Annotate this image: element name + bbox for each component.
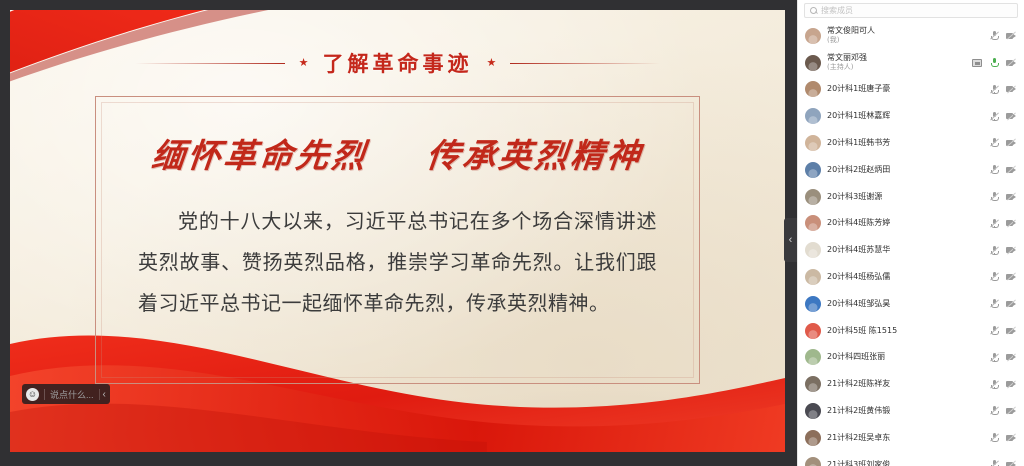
camera-off-icon[interactable]	[1006, 299, 1016, 308]
avatar	[805, 215, 821, 231]
participant-status-icons	[989, 219, 1016, 228]
slide-body-text: 党的十八大以来，习近平总书记在多个场合深情讲述英烈故事、赞扬英烈品格，推崇学习革…	[138, 201, 657, 324]
search-container	[798, 0, 1024, 22]
participant-row[interactable]: 20计科四班张丽	[798, 344, 1024, 371]
camera-off-icon[interactable]	[1006, 192, 1016, 201]
avatar	[805, 323, 821, 339]
slide-calligraphy-heading: 缅怀革命先烈 传承英烈精神	[93, 129, 701, 177]
participant-status-icons	[989, 460, 1016, 466]
avatar	[805, 28, 821, 44]
camera-off-icon[interactable]	[1006, 246, 1016, 255]
camera-off-icon[interactable]	[1006, 58, 1016, 67]
header-rule-right	[510, 63, 660, 64]
camera-off-icon[interactable]	[1006, 406, 1016, 415]
avatar	[805, 81, 821, 97]
participant-name: 21计科3班刘家俊	[827, 460, 983, 466]
participant-name: 常文丽邓强	[827, 53, 966, 63]
participant-role-label: (主持人)	[827, 63, 966, 72]
avatar	[805, 135, 821, 151]
participant-row[interactable]: 20计科1班韩书芳	[798, 130, 1024, 157]
search-icon	[810, 7, 817, 14]
avatar	[805, 403, 821, 419]
participant-status-icons	[989, 246, 1016, 255]
participant-status-icons	[989, 406, 1016, 415]
participant-status-icons	[989, 85, 1016, 94]
avatar	[805, 349, 821, 365]
camera-off-icon[interactable]	[1006, 31, 1016, 40]
avatar	[805, 430, 821, 446]
participant-name: 20计科4班杨弘儒	[827, 272, 983, 282]
participant-status-icons	[989, 31, 1016, 40]
smiley-icon[interactable]: ☺	[26, 388, 39, 401]
participant-status-icons	[989, 299, 1016, 308]
microphone-muted-icon[interactable]	[989, 85, 999, 94]
heading-left-text: 缅怀革命先烈	[150, 136, 370, 175]
camera-off-icon[interactable]	[1006, 165, 1016, 174]
composer-divider	[44, 389, 45, 400]
participant-names: 20计科1班唐子豪	[827, 84, 983, 94]
search-input[interactable]	[821, 6, 1012, 15]
participants-list[interactable]: 常文俊阳可人(我)常文丽邓强(主持人)20计科1班唐子豪20计科1班林嘉辉20计…	[798, 22, 1024, 466]
participant-name: 21计科2班黄伟锻	[827, 406, 983, 416]
participant-name: 21计科2班陈祥友	[827, 379, 983, 389]
participant-row[interactable]: 20计科5班 陈1515	[798, 317, 1024, 344]
collapse-panel-button[interactable]: ‹	[784, 218, 797, 262]
participant-name: 21计科2班吴卓东	[827, 433, 983, 443]
chat-input-placeholder[interactable]: 说点什么...	[50, 388, 94, 401]
participant-status-icons	[989, 380, 1016, 389]
participant-names: 20计科四班张丽	[827, 352, 983, 362]
camera-off-icon[interactable]	[1006, 272, 1016, 281]
microphone-muted-icon[interactable]	[989, 246, 999, 255]
microphone-muted-icon[interactable]	[989, 272, 999, 281]
presentation-slide: ★ 了解革命事迹 ★ 缅怀革命先烈 传承英烈精神 党的十八大以来，习近平总书记在…	[10, 10, 785, 452]
participant-row[interactable]: 20计科4班邹弘昊	[798, 290, 1024, 317]
search-bar[interactable]	[804, 3, 1018, 18]
participant-name: 20计科4班苏慧华	[827, 245, 983, 255]
participant-status-icons	[989, 165, 1016, 174]
participant-name: 20计科四班张丽	[827, 352, 983, 362]
star-right-icon: ★	[487, 58, 497, 69]
participant-names: 20计科5班 陈1515	[827, 326, 983, 336]
participant-status-icons	[989, 192, 1016, 201]
avatar	[805, 269, 821, 285]
microphone-muted-icon[interactable]	[989, 406, 999, 415]
microphone-on-icon[interactable]	[989, 58, 999, 67]
chevron-left-icon[interactable]: ‹	[99, 389, 106, 400]
microphone-muted-icon[interactable]	[989, 326, 999, 335]
participant-name: 20计科1班林嘉辉	[827, 111, 983, 121]
microphone-muted-icon[interactable]	[989, 299, 999, 308]
participant-row[interactable]: 常文俊阳可人(我)	[798, 22, 1024, 49]
participant-status-icons	[972, 58, 1016, 67]
microphone-muted-icon[interactable]	[989, 138, 999, 147]
participant-names: 20计科4班陈芳婷	[827, 218, 983, 228]
participant-name: 20计科5班 陈1515	[827, 326, 983, 336]
meeting-window: ★ 了解革命事迹 ★ 缅怀革命先烈 传承英烈精神 党的十八大以来，习近平总书记在…	[0, 0, 1024, 466]
microphone-muted-icon[interactable]	[989, 165, 999, 174]
participant-row[interactable]: 21计科2班黄伟锻	[798, 398, 1024, 425]
microphone-muted-icon[interactable]	[989, 433, 999, 442]
participant-names: 21计科3班刘家俊	[827, 460, 983, 466]
participant-row[interactable]: 20计科4班杨弘儒	[798, 264, 1024, 291]
participant-row[interactable]: 21计科3班刘家俊	[798, 451, 1024, 466]
participant-name: 20计科1班韩书芳	[827, 138, 983, 148]
microphone-muted-icon[interactable]	[989, 219, 999, 228]
avatar	[805, 242, 821, 258]
microphone-muted-icon[interactable]	[989, 31, 999, 40]
participant-status-icons	[989, 138, 1016, 147]
participant-names: 常文丽邓强(主持人)	[827, 53, 966, 72]
camera-off-icon[interactable]	[1006, 353, 1016, 362]
participant-names: 20计科4班邹弘昊	[827, 299, 983, 309]
avatar	[805, 55, 821, 71]
participant-row[interactable]: 20计科1班唐子豪	[798, 76, 1024, 103]
camera-off-icon[interactable]	[1006, 85, 1016, 94]
participant-row[interactable]: 常文丽邓强(主持人)	[798, 49, 1024, 76]
slide-content-frame: 缅怀革命先烈 传承英烈精神 党的十八大以来，习近平总书记在多个场合深情讲述英烈故…	[95, 96, 700, 384]
participant-status-icons	[989, 326, 1016, 335]
participant-name: 常文俊阳可人	[827, 26, 983, 36]
slide-header: ★ 了解革命事迹 ★	[10, 48, 785, 78]
participant-status-icons	[989, 272, 1016, 281]
microphone-muted-icon[interactable]	[989, 380, 999, 389]
participant-name: 20计科1班唐子豪	[827, 84, 983, 94]
participant-status-icons	[989, 353, 1016, 362]
participant-name: 20计科4班陈芳婷	[827, 218, 983, 228]
shared-screen-stage: ★ 了解革命事迹 ★ 缅怀革命先烈 传承英烈精神 党的十八大以来，习近平总书记在…	[0, 0, 797, 466]
participant-name: 20计科4班邹弘昊	[827, 299, 983, 309]
participant-role-label: (我)	[827, 36, 983, 45]
participant-status-icons	[989, 112, 1016, 121]
participant-row[interactable]: 20计科2班赵炳田	[798, 156, 1024, 183]
header-rule-left	[135, 63, 285, 64]
participant-names: 21计科2班吴卓东	[827, 433, 983, 443]
participant-names: 20计科4班苏慧华	[827, 245, 983, 255]
participant-row[interactable]: 20计科3班谢源	[798, 183, 1024, 210]
participants-panel: 常文俊阳可人(我)常文丽邓强(主持人)20计科1班唐子豪20计科1班林嘉辉20计…	[797, 0, 1024, 466]
participant-names: 21计科2班陈祥友	[827, 379, 983, 389]
participant-names: 20计科3班谢源	[827, 192, 983, 202]
microphone-muted-icon[interactable]	[989, 192, 999, 201]
star-left-icon: ★	[299, 58, 309, 69]
participant-row[interactable]: 20计科4班陈芳婷	[798, 210, 1024, 237]
participant-status-icons	[989, 433, 1016, 442]
heading-right-text: 传承英烈精神	[425, 136, 645, 175]
participant-name: 20计科2班赵炳田	[827, 165, 983, 175]
microphone-muted-icon[interactable]	[989, 460, 999, 466]
participant-names: 20计科1班林嘉辉	[827, 111, 983, 121]
camera-off-icon[interactable]	[1006, 433, 1016, 442]
participant-row[interactable]: 21计科2班吴卓东	[798, 424, 1024, 451]
microphone-muted-icon[interactable]	[989, 353, 999, 362]
microphone-muted-icon[interactable]	[989, 112, 999, 121]
avatar	[805, 189, 821, 205]
avatar	[805, 108, 821, 124]
participant-row[interactable]: 21计科2班陈祥友	[798, 371, 1024, 398]
camera-off-icon[interactable]	[1006, 326, 1016, 335]
slide-title: 了解革命事迹	[323, 48, 473, 78]
camera-off-icon[interactable]	[1006, 460, 1016, 466]
camera-off-icon[interactable]	[1006, 138, 1016, 147]
participant-row[interactable]: 20计科4班苏慧华	[798, 237, 1024, 264]
camera-off-icon[interactable]	[1006, 219, 1016, 228]
avatar	[805, 376, 821, 392]
avatar	[805, 457, 821, 466]
camera-off-icon[interactable]	[1006, 380, 1016, 389]
participant-names: 20计科2班赵炳田	[827, 165, 983, 175]
participant-names: 常文俊阳可人(我)	[827, 26, 983, 45]
camera-off-icon[interactable]	[1006, 112, 1016, 121]
participant-names: 20计科4班杨弘儒	[827, 272, 983, 282]
avatar	[805, 162, 821, 178]
participant-name: 20计科3班谢源	[827, 192, 983, 202]
participant-names: 21计科2班黄伟锻	[827, 406, 983, 416]
screen-share-icon	[972, 59, 982, 67]
avatar	[805, 296, 821, 312]
participant-row[interactable]: 20计科1班林嘉辉	[798, 103, 1024, 130]
chat-composer[interactable]: ☺ 说点什么... ‹	[22, 384, 110, 404]
participant-names: 20计科1班韩书芳	[827, 138, 983, 148]
